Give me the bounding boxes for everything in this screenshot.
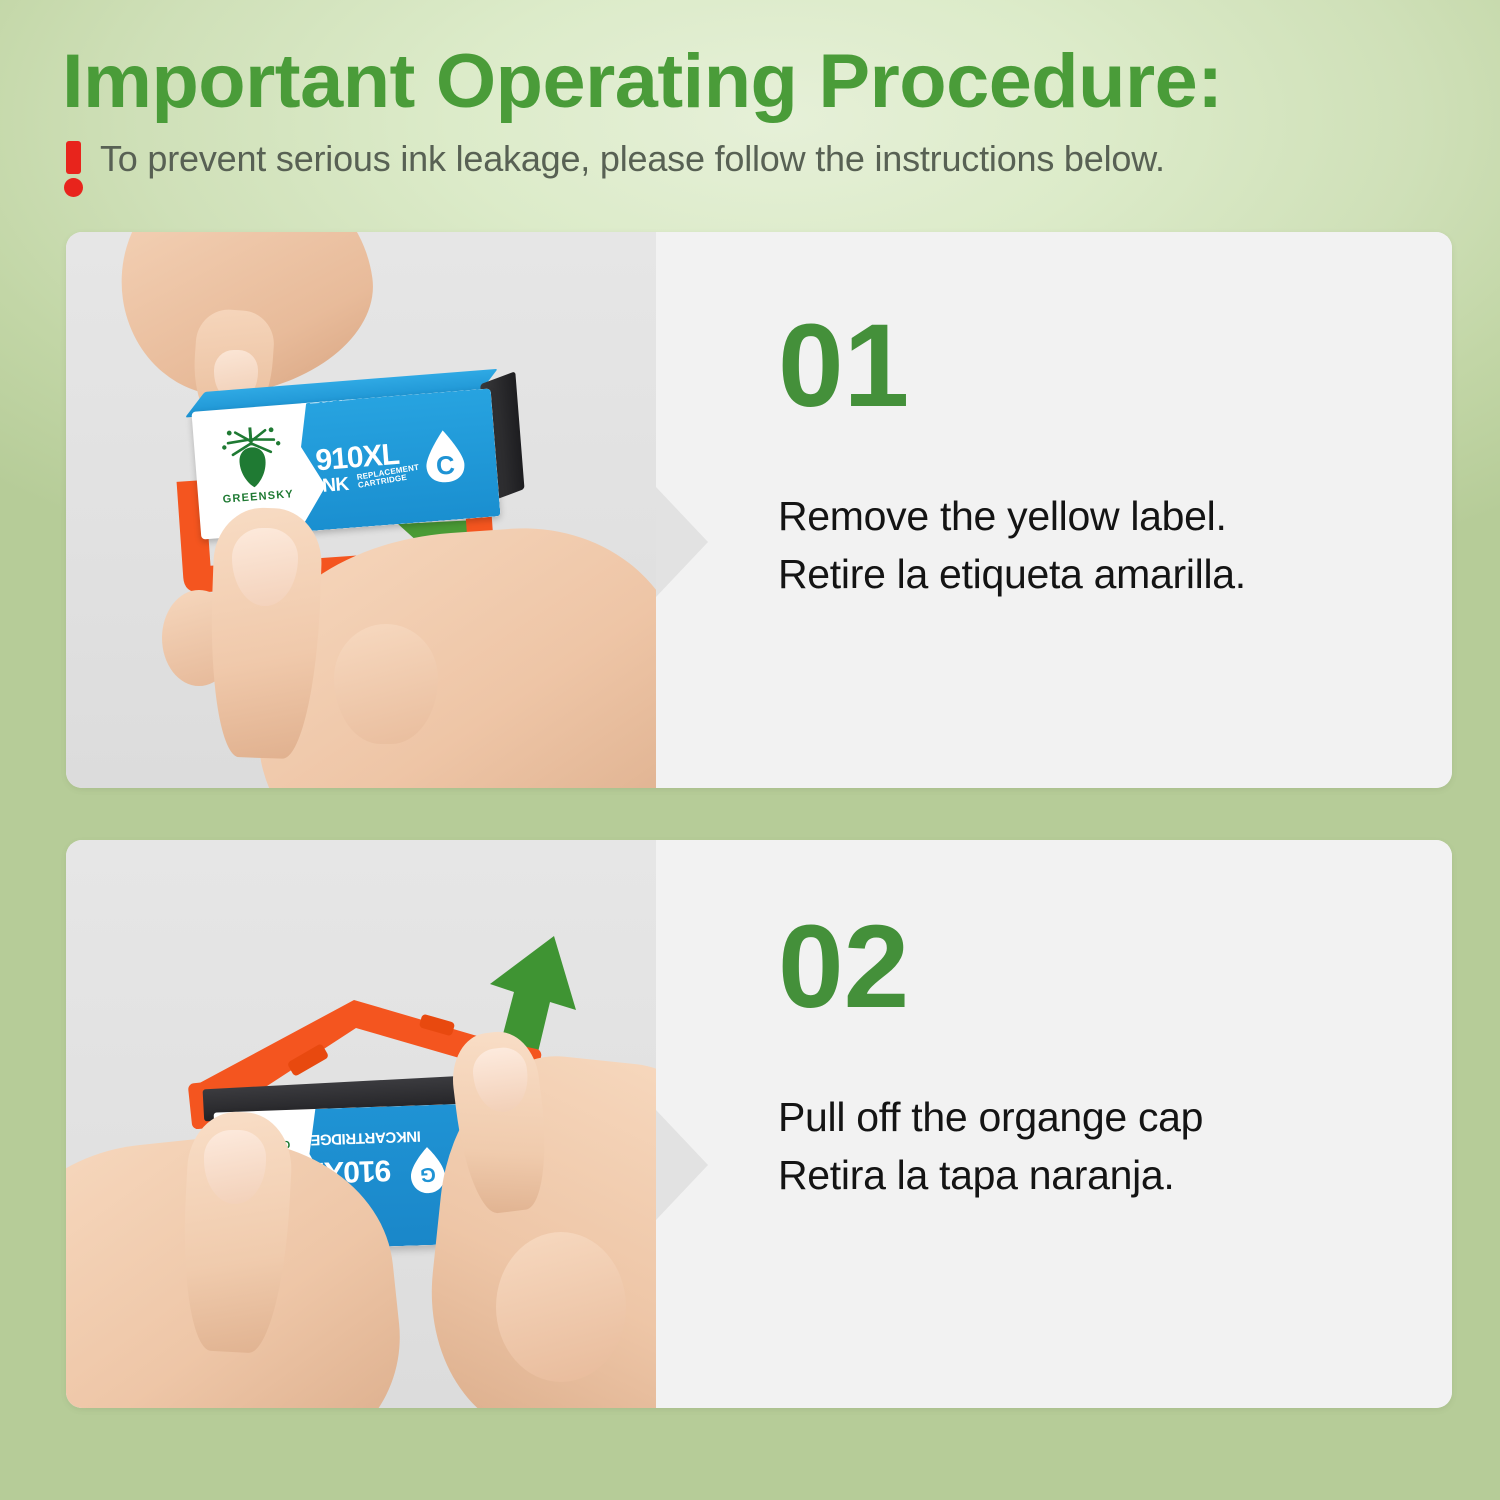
step-card-01: GREENSKY 910XL 910XL INK REPLACEMENT CAR…	[66, 232, 1452, 788]
knuckle-right	[496, 1232, 626, 1382]
step-01-photo: GREENSKY 910XL 910XL INK REPLACEMENT CAR…	[66, 232, 656, 788]
exclamation-icon	[62, 141, 84, 193]
step-02-text-pane: 02 Pull off the organge cap Retira la ta…	[656, 840, 1452, 1408]
knuckle	[334, 624, 438, 744]
greensky-tree-logo-icon	[219, 423, 286, 494]
step-number-02: 02	[778, 908, 909, 1026]
svg-text:G: G	[420, 1163, 436, 1186]
svg-text:C: C	[435, 449, 456, 480]
page-title: Important Operating Procedure:	[62, 38, 1223, 125]
step-number-01: 01	[778, 307, 909, 425]
step-01-text-pane: 01 Remove the yellow label. Retire la et…	[656, 232, 1452, 788]
cartridge-ink-label: INK	[317, 474, 350, 498]
warning-row: To prevent serious ink leakage, please f…	[62, 139, 1165, 193]
step-02-photo: GREENSKY INKCARTRIDGE	[66, 840, 656, 1408]
step-card-02: GREENSKY INKCARTRIDGE	[66, 840, 1452, 1408]
step-instruction-01: Remove the yellow label. Retire la etiqu…	[778, 487, 1246, 603]
warning-subtitle: To prevent serious ink leakage, please f…	[100, 139, 1165, 179]
operating-procedure-page: Important Operating Procedure: To preven…	[0, 0, 1500, 1500]
cyan-droplet-icon: C	[420, 427, 470, 486]
step-instruction-02: Pull off the organge cap Retira la tapa …	[778, 1088, 1203, 1204]
